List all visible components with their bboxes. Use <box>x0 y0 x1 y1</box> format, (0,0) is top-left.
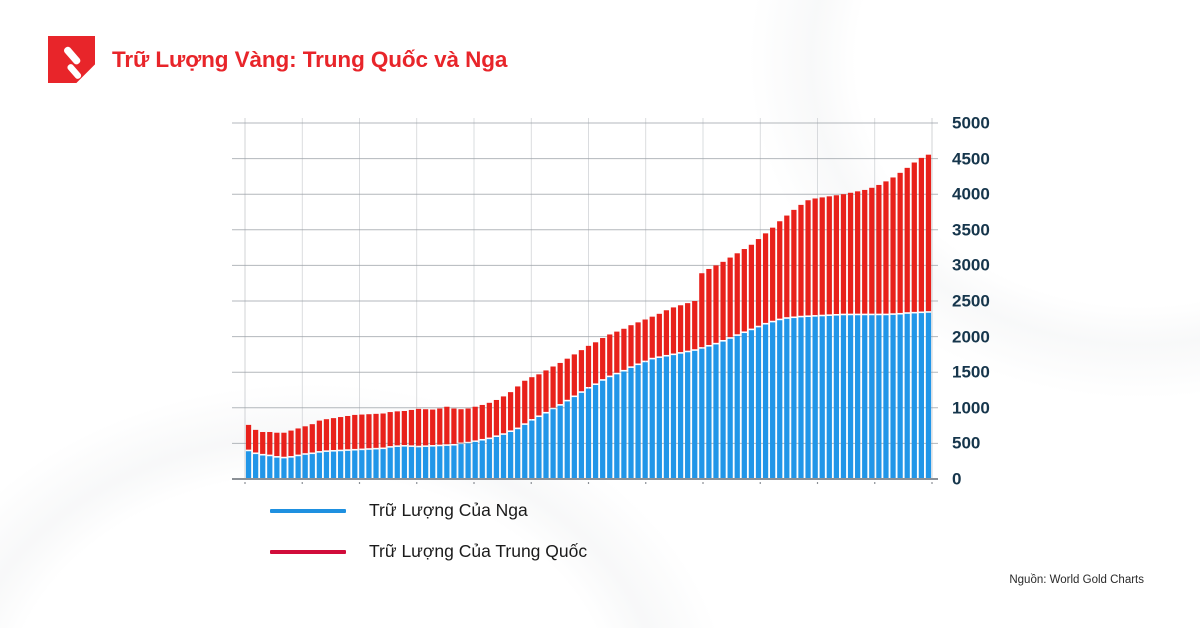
bar-segment-china <box>458 409 463 442</box>
bar-segment-china <box>713 265 718 342</box>
bar-segment-china <box>274 433 279 456</box>
bar-segment-russia <box>437 446 442 479</box>
bar-segment-china <box>855 191 860 313</box>
y-axis-tick-label: 3000 <box>952 257 990 274</box>
bar-segment-china <box>253 430 258 453</box>
bar-segment-china <box>728 258 733 338</box>
bar-segment-russia <box>614 374 619 479</box>
bar-segment-china <box>345 416 350 449</box>
y-axis-tick-label: 5000 <box>952 115 990 132</box>
bar-segment-china <box>657 314 662 357</box>
bar-segment-china <box>465 409 470 442</box>
bar-segment-russia <box>543 413 548 479</box>
y-axis-tick-label: 1000 <box>952 399 990 416</box>
bar-segment-russia <box>905 314 910 479</box>
bar-segment-russia <box>423 447 428 479</box>
bar-segment-russia <box>565 401 570 479</box>
bar-segment-russia <box>713 344 718 479</box>
bar-segment-russia <box>898 315 903 479</box>
bar-segment-china <box>522 381 527 424</box>
bar-segment-china <box>685 303 690 351</box>
bar-segment-russia <box>331 452 336 479</box>
bar-segment-russia <box>345 451 350 479</box>
legend-label-russia: Trữ Lượng Của Nga <box>369 500 528 521</box>
horizontal-gridlines <box>232 123 938 479</box>
bar-segment-russia <box>303 455 308 479</box>
bar-segment-russia <box>550 409 555 479</box>
y-axis-labels: 0500100015002000250030003500400045005000 <box>952 0 1042 628</box>
bar-segment-china <box>841 194 846 313</box>
bar-segment-russia <box>883 315 888 479</box>
pen-square-logo-icon <box>48 36 95 83</box>
bar-segment-russia <box>912 313 917 479</box>
bar-segment-china <box>643 320 648 361</box>
bar-segment-china <box>260 432 265 454</box>
bar-segment-china <box>905 168 910 312</box>
bar-segment-russia <box>720 342 725 479</box>
header: Trữ Lượng Vàng: Trung Quốc và Nga <box>48 36 507 83</box>
bar-segment-china <box>303 426 308 453</box>
bar-segment-china <box>402 411 407 445</box>
bar-segment-russia <box>600 381 605 479</box>
bar-segment-china <box>827 196 832 314</box>
bar-segment-china <box>791 210 796 317</box>
bar-segment-china <box>451 409 456 444</box>
bar-segment-china <box>621 329 626 370</box>
bar-segment-china <box>664 310 669 355</box>
bar-segment-china <box>805 200 810 315</box>
bar-segment-russia <box>416 447 421 479</box>
bar-segment-china <box>529 377 534 419</box>
bar-segment-russia <box>791 318 796 479</box>
bar-segment-russia <box>324 452 329 479</box>
bar-segment-russia <box>827 316 832 479</box>
bar-segment-china <box>359 415 364 449</box>
bar-segment-russia <box>742 333 747 479</box>
bar-segment-china <box>678 305 683 352</box>
bar-segment-russia <box>699 349 704 479</box>
bar-segment-russia <box>508 432 513 479</box>
bar-segment-russia <box>805 317 810 479</box>
bar-segment-china <box>508 392 513 430</box>
bar-segment-russia <box>380 449 385 479</box>
bar-segment-china <box>501 396 506 433</box>
bar-segment-russia <box>501 435 506 479</box>
bar-segment-russia <box>777 320 782 479</box>
bar-segment-china <box>635 322 640 363</box>
bar-segment-russia <box>593 385 598 479</box>
bar-segment-russia <box>494 437 499 479</box>
bar-segment-china <box>288 431 293 456</box>
bar-segment-russia <box>274 458 279 479</box>
bar-segment-china <box>246 425 251 450</box>
bar-segment-china <box>735 253 740 334</box>
bar-segment-china <box>890 177 895 313</box>
bar-segment-russia <box>536 417 541 479</box>
bar-segment-china <box>699 273 704 347</box>
bar-segment-russia <box>635 365 640 479</box>
bar-segment-china <box>820 197 825 314</box>
bar-segment-russia <box>692 351 697 479</box>
bar-segment-china <box>536 374 541 415</box>
bar-segment-russia <box>813 317 818 479</box>
bar-segment-russia <box>820 316 825 479</box>
bar-segment-russia <box>317 453 322 479</box>
bar-segment-china <box>338 417 343 450</box>
bar-segment-china <box>331 418 336 450</box>
bar-segment-china <box>352 415 357 449</box>
bar-segment-china <box>770 228 775 321</box>
bar-segment-china <box>919 158 924 312</box>
bar-segment-china <box>777 221 782 318</box>
bar-segment-russia <box>869 315 874 479</box>
bar-segment-china <box>593 342 598 383</box>
infographic-root: Trữ Lượng Vàng: Trung Quốc và Nga 050010… <box>0 0 1200 628</box>
bar-segment-china <box>898 173 903 313</box>
bar-segment-russia <box>529 421 534 479</box>
bar-segment-russia <box>444 446 449 479</box>
bar-segment-russia <box>288 458 293 479</box>
page-title: Trữ Lượng Vàng: Trung Quốc và Nga <box>112 47 507 73</box>
bar-segment-russia <box>310 454 315 479</box>
bar-segment-russia <box>848 315 853 479</box>
bar-segment-russia <box>366 450 371 479</box>
bar-segment-russia <box>465 443 470 479</box>
bar-segment-russia <box>579 393 584 479</box>
stacked-bar-chart <box>232 118 938 484</box>
bar-segment-russia <box>373 449 378 479</box>
bar-segment-russia <box>409 447 414 479</box>
y-axis-tick-label: 4500 <box>952 150 990 167</box>
bar-segment-russia <box>395 447 400 479</box>
bar-segment-china <box>756 239 761 326</box>
bar-segment-russia <box>487 439 492 479</box>
bar-segment-russia <box>926 313 931 479</box>
bar-segment-russia <box>841 315 846 479</box>
bar-segment-china <box>558 363 563 404</box>
bar-segment-russia <box>515 429 520 479</box>
bar-segment-russia <box>338 451 343 479</box>
bar-segment-russia <box>430 447 435 479</box>
bar-segment-china <box>869 188 874 314</box>
bar-segment-russia <box>260 456 265 479</box>
bar-segment-china <box>798 205 803 316</box>
bar-segment-china <box>650 317 655 358</box>
bar-segment-china <box>310 424 315 452</box>
bar-segment-china <box>437 409 442 445</box>
bar-segment-china <box>784 216 789 318</box>
bar-segment-russia <box>480 441 485 479</box>
bar-segment-china <box>395 411 400 445</box>
y-axis-tick-label: 500 <box>952 435 980 452</box>
y-axis-tick-label: 3500 <box>952 221 990 238</box>
bar-segment-china <box>600 338 605 379</box>
bar-segment-russia <box>643 362 648 479</box>
legend-swatch-china <box>270 550 346 554</box>
bar-segment-china <box>565 359 570 400</box>
bar-segment-russia <box>834 316 839 479</box>
legend-item-russia[interactable]: Trữ Lượng Của Nga <box>270 500 587 521</box>
bar-segment-russia <box>650 359 655 479</box>
bar-segment-russia <box>862 315 867 479</box>
bar-segment-russia <box>281 458 286 479</box>
bar-segment-russia <box>763 324 768 479</box>
bar-segment-china <box>295 428 300 454</box>
bar-segment-china <box>834 195 839 314</box>
bar-segment-russia <box>706 347 711 479</box>
bar-segment-china <box>267 432 272 455</box>
bar-segment-russia <box>735 336 740 479</box>
bar-segment-china <box>543 370 548 411</box>
bar-segment-russia <box>586 389 591 479</box>
bar-segment-russia <box>267 456 272 479</box>
y-axis-tick-label: 1500 <box>952 364 990 381</box>
bar-segment-china <box>671 307 676 353</box>
bar-segment-russia <box>558 406 563 479</box>
bar-segment-china <box>862 190 867 314</box>
bar-segment-russia <box>295 456 300 479</box>
bar-segment-russia <box>628 368 633 479</box>
bar-segment-china <box>813 198 818 315</box>
bar-segment-china <box>409 410 414 445</box>
y-axis-tick-label: 4000 <box>952 186 990 203</box>
bar-segment-russia <box>664 357 669 479</box>
bar-segment-china <box>628 325 633 366</box>
bar-segment-china <box>444 407 449 445</box>
bar-segment-china <box>380 413 385 447</box>
y-axis-tick-label: 0 <box>952 471 961 488</box>
bar-segment-china <box>494 400 499 435</box>
bar-segment-russia <box>388 448 393 479</box>
bar-segment-russia <box>890 315 895 479</box>
bar-segment-china <box>763 233 768 323</box>
bar-segment-china <box>586 346 591 387</box>
bar-segment-china <box>848 193 853 314</box>
bar-segment-russia <box>246 451 251 479</box>
bar-segment-russia <box>458 444 463 479</box>
bar-segment-china <box>416 409 421 446</box>
bar-segment-russia <box>770 322 775 479</box>
bar-segment-russia <box>621 371 626 479</box>
bar-segment-russia <box>919 313 924 479</box>
bar-segment-china <box>550 367 555 408</box>
bar-segment-china <box>607 334 612 375</box>
bar-segment-russia <box>451 446 456 479</box>
bar-segment-china <box>572 354 577 395</box>
bar-segment-china <box>926 155 931 311</box>
bar-segment-china <box>742 249 747 331</box>
bar-segment-china <box>487 403 492 438</box>
bar-segment-russia <box>798 317 803 479</box>
bar-segment-china <box>423 409 428 445</box>
bar-segment-russia <box>473 442 478 479</box>
bar-segment-russia <box>657 358 662 479</box>
bar-segment-china <box>579 350 584 391</box>
bar-segment-china <box>912 163 917 312</box>
bar-segment-china <box>692 301 697 349</box>
bar-segment-russia <box>253 454 258 479</box>
bar-segment-russia <box>784 319 789 479</box>
bar-segment-china <box>366 414 371 448</box>
bar-segment-russia <box>685 352 690 479</box>
bar-segment-china <box>473 407 478 441</box>
bar-segment-china <box>281 433 286 457</box>
bar-segment-china <box>430 410 435 445</box>
bar-segment-china <box>480 405 485 439</box>
y-axis-tick-label: 2500 <box>952 293 990 310</box>
legend-item-china[interactable]: Trữ Lượng Của Trung Quốc <box>270 541 587 562</box>
bar-segment-china <box>317 421 322 451</box>
bar-segment-russia <box>671 355 676 479</box>
bar-segment-china <box>515 386 520 427</box>
source-note: Nguồn: World Gold Charts <box>1009 574 1144 586</box>
bar-segment-china <box>876 185 881 314</box>
bar-segment-china <box>883 181 888 313</box>
bar-segment-russia <box>678 354 683 479</box>
bar-segment-russia <box>607 377 612 479</box>
chart-legend: Trữ Lượng Của NgaTrữ Lượng Của Trung Quố… <box>270 500 587 562</box>
bar-segment-russia <box>352 451 357 479</box>
bar-segment-russia <box>756 327 761 479</box>
bar-segment-russia <box>402 447 407 479</box>
bar-segment-china <box>373 414 378 448</box>
bar-segment-china <box>324 419 329 450</box>
legend-swatch-russia <box>270 509 346 513</box>
bar-segment-russia <box>728 339 733 479</box>
y-axis-tick-label: 2000 <box>952 328 990 345</box>
bar-segment-russia <box>359 450 364 479</box>
bar-segment-russia <box>749 330 754 479</box>
bar-segment-russia <box>876 315 881 479</box>
bar-segment-russia <box>522 425 527 479</box>
bar-segment-china <box>706 269 711 345</box>
bar-segment-russia <box>855 315 860 479</box>
bar-segment-china <box>614 332 619 373</box>
legend-label-china: Trữ Lượng Của Trung Quốc <box>369 541 587 562</box>
bar-segment-russia <box>572 397 577 479</box>
bar-segment-china <box>749 245 754 329</box>
bar-segment-china <box>720 262 725 340</box>
chart-plot <box>232 118 938 484</box>
bar-segment-china <box>388 412 393 446</box>
